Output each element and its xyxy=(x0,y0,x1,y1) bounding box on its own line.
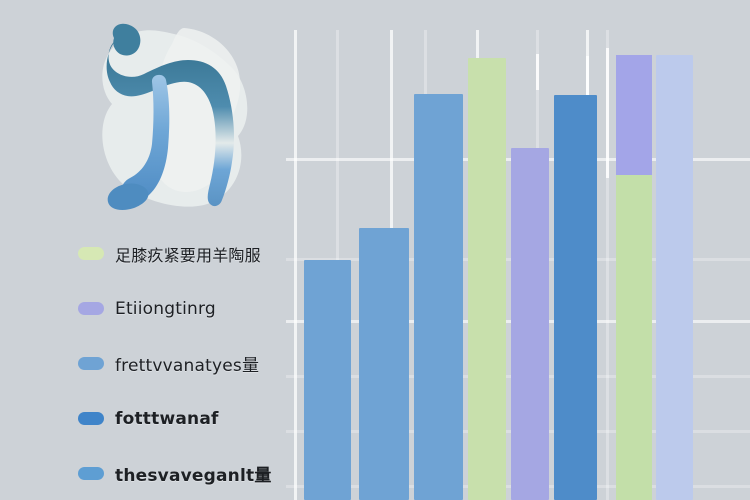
bar-8[interactable] xyxy=(656,55,693,500)
legs-in-socks-illustration xyxy=(88,8,268,220)
legend-item[interactable]: 足膝疚紧要用羊陶服 xyxy=(78,226,328,281)
segment-green[interactable] xyxy=(616,175,652,500)
legend-item-label: frettvvanatyes量 xyxy=(115,351,259,376)
legend-swatch-icon xyxy=(78,412,104,425)
chart-screenshot: 足膝疚紧要用羊陶服Etiiongtinrgfrettvvanatyes量fott… xyxy=(0,0,750,500)
bar-3[interactable] xyxy=(414,94,463,500)
legend-swatch-icon xyxy=(78,467,104,480)
legend-item[interactable]: frettvvanatyes量 xyxy=(78,336,328,391)
legend-swatch-icon xyxy=(78,357,104,370)
bar-5[interactable] xyxy=(511,148,549,500)
legend-item-label: thesvaveganlt量 xyxy=(115,461,272,486)
legend-item[interactable]: thesvaveganlt量 xyxy=(78,446,328,500)
bar-7-stacked[interactable] xyxy=(616,55,652,500)
axis-tick xyxy=(606,48,609,178)
bar-6[interactable] xyxy=(554,95,597,500)
segment-purple[interactable] xyxy=(616,55,652,175)
legend-item[interactable]: Etiiongtinrg xyxy=(78,281,328,336)
bar-2[interactable] xyxy=(359,228,409,500)
axis-tick xyxy=(536,54,539,90)
bar-4[interactable] xyxy=(468,58,506,500)
legend-item-label: 足膝疚紧要用羊陶服 xyxy=(115,242,261,266)
legend-item-label: fotttwanaf xyxy=(115,409,219,429)
legend-item-label: Etiiongtinrg xyxy=(115,299,216,319)
bar-chart-plot-area xyxy=(286,30,750,500)
legend-swatch-icon xyxy=(78,302,104,315)
legend-item[interactable]: fotttwanaf xyxy=(78,391,328,446)
chart-legend: 足膝疚紧要用羊陶服Etiiongtinrgfrettvvanatyes量fott… xyxy=(78,226,328,500)
legend-swatch-icon xyxy=(78,247,104,260)
